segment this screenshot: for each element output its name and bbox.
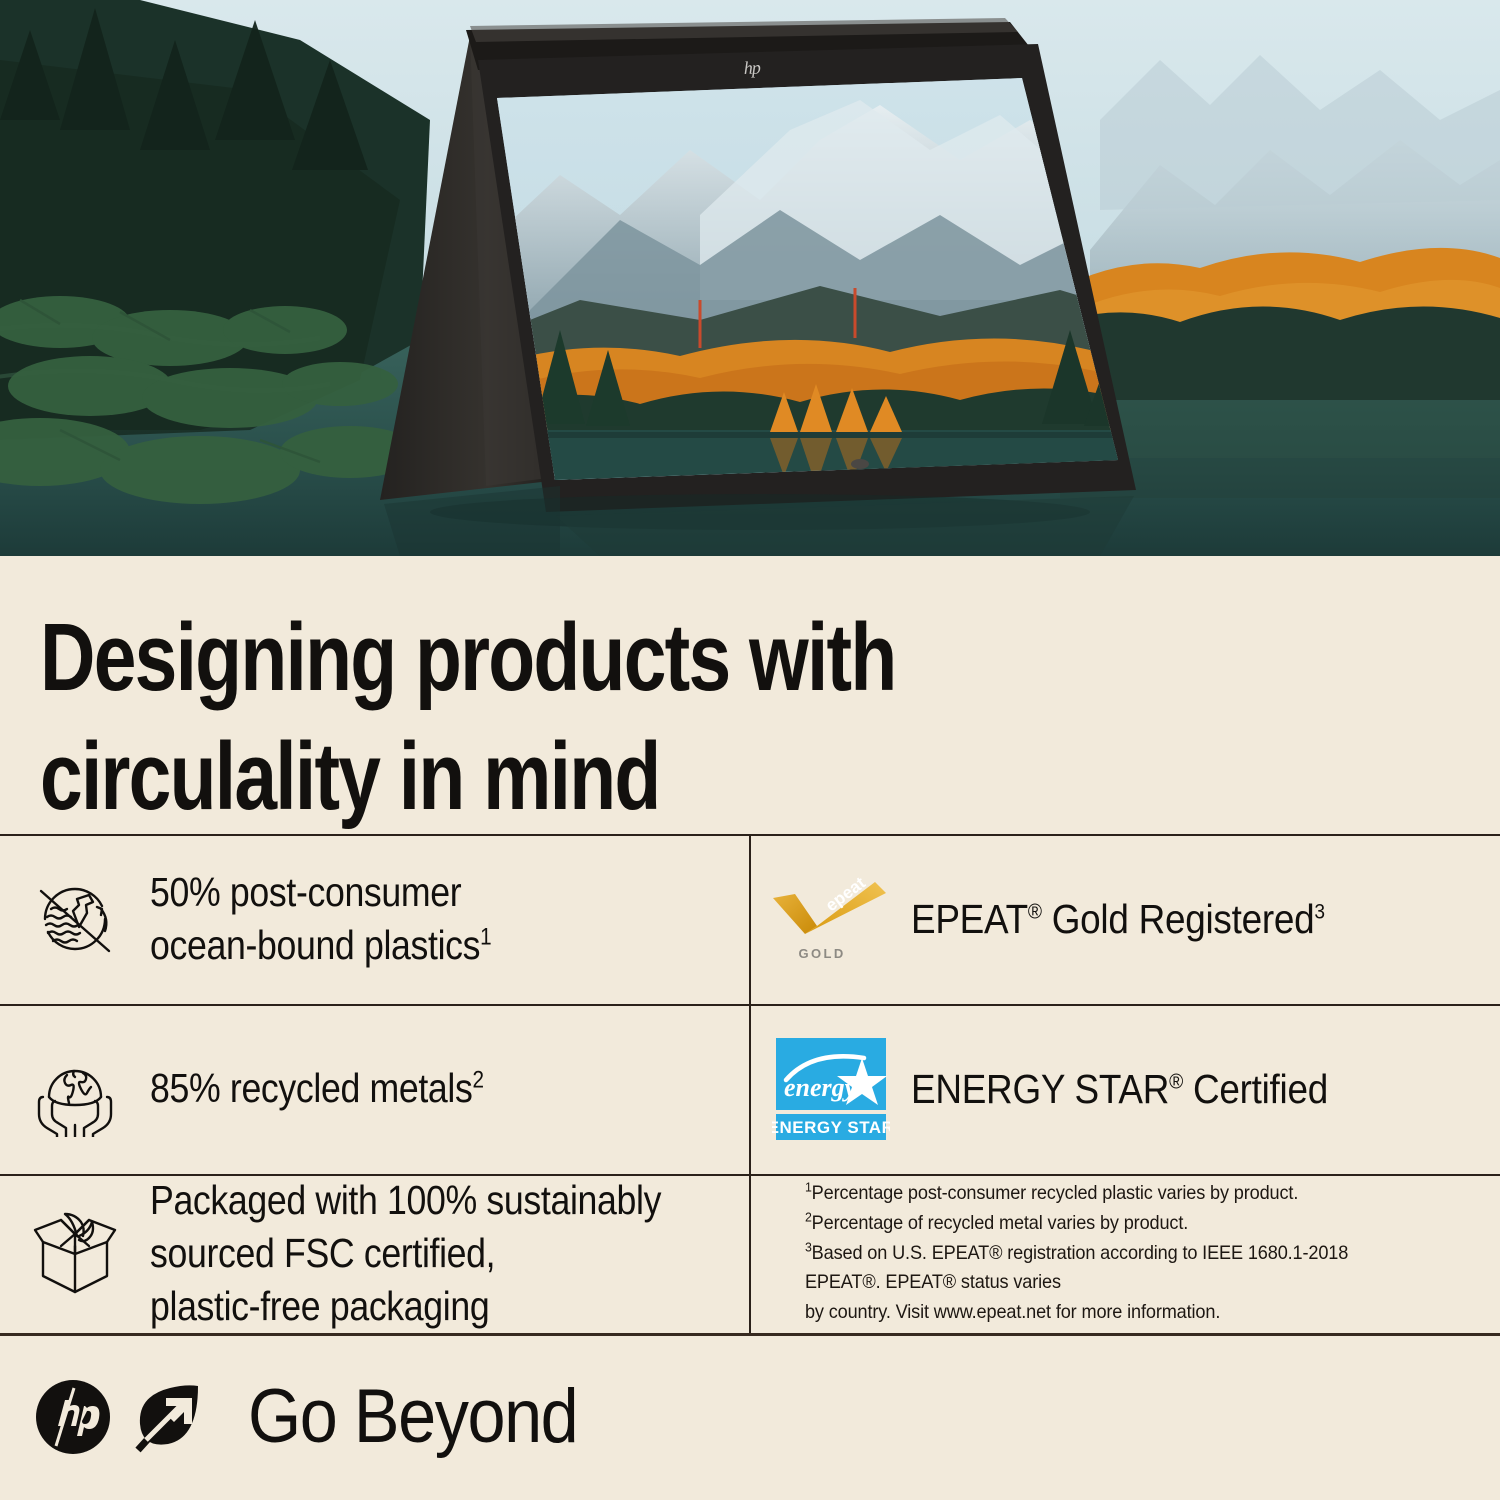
footnotes-block: 1Percentage post-consumer recycled plast… — [751, 1174, 1500, 1333]
footnote-1: 1Percentage post-consumer recycled plast… — [805, 1179, 1414, 1209]
leaf-arrow-icon — [130, 1378, 208, 1456]
feature-label: Packaged with 100% sustainably sourced F… — [150, 1174, 661, 1334]
hero-image: hp — [0, 0, 1500, 556]
certification-energy-star: energy ENERGY STAR ENERGY STAR® Certifie… — [751, 1004, 1500, 1174]
hp-logo-bezel: hp — [743, 57, 761, 78]
certification-label: ENERGY STAR® Certified — [911, 1066, 1328, 1113]
energy-star-logo: energy ENERGY STAR — [751, 1036, 911, 1142]
hp-circle-logo — [34, 1378, 112, 1456]
epeat-gold-logo: epeat GOLD — [751, 876, 911, 962]
footnote-2: 2Percentage of recycled metal varies by … — [805, 1209, 1414, 1239]
footnote-3: 3Based on U.S. EPEAT® registration accor… — [805, 1239, 1414, 1328]
ad-page: hp Designing products with circulality i… — [0, 0, 1500, 1500]
certification-label: EPEAT® Gold Registered3 — [911, 896, 1325, 943]
brand-tagline: Go Beyond — [248, 1373, 577, 1460]
recycled-metals-globe-hands-icon — [0, 1041, 150, 1137]
feature-label: 50% post-consumer ocean-bound plastics1 — [150, 866, 491, 973]
svg-text:ENERGY STAR: ENERGY STAR — [772, 1118, 890, 1137]
epeat-tier-label: GOLD — [799, 946, 846, 961]
feature-sustainable-packaging: Packaged with 100% sustainably sourced F… — [0, 1174, 749, 1333]
page-title: Designing products with circulality in m… — [40, 598, 936, 836]
certification-epeat: epeat GOLD EPEAT® Gold Registered3 — [751, 834, 1500, 1004]
hero-illustration: hp — [0, 0, 1500, 556]
svg-text:hp: hp — [743, 57, 761, 78]
feature-ocean-plastics: 50% post-consumer ocean-bound plastics1 — [0, 834, 749, 1004]
feature-recycled-metals: 85% recycled metals2 — [0, 1004, 749, 1174]
brand-footer: Go Beyond — [0, 1333, 1500, 1500]
features-grid: 50% post-consumer ocean-bound plastics1 — [0, 834, 1500, 1333]
content-panel: Designing products with circulality in m… — [0, 556, 1500, 1500]
ocean-bound-plastics-icon — [0, 871, 150, 967]
feature-label: 85% recycled metals2 — [150, 1062, 484, 1115]
sustainable-packaging-box-icon — [0, 1206, 150, 1302]
